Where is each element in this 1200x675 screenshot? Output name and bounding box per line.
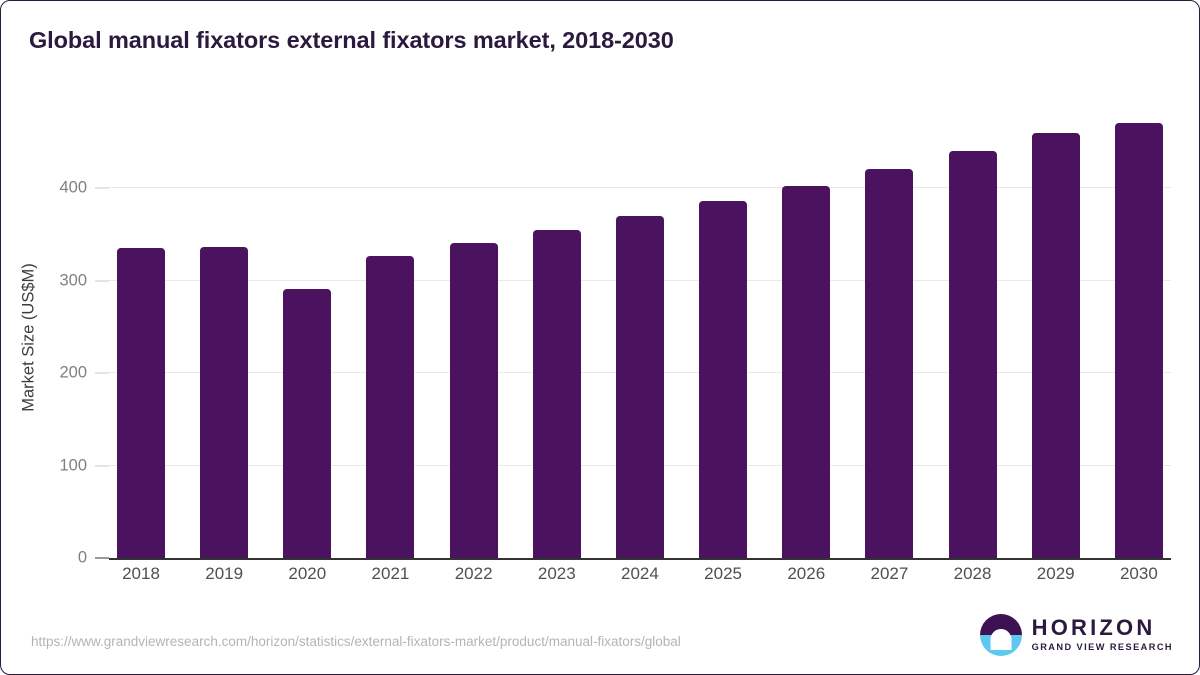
bar-2028[interactable] [949,151,997,558]
bar-slot [366,96,414,558]
x-tick-label-2018: 2018 [117,564,165,584]
x-tick-label-2021: 2021 [366,564,414,584]
x-axis-tick-labels: 2018201920202021202220232024202520262027… [109,564,1171,584]
bar-2020[interactable] [283,289,331,558]
bar-2030[interactable] [1115,123,1163,558]
y-tick-mark [95,465,109,466]
bar-slot [949,96,997,558]
y-tick-mark [95,373,109,374]
bar-slot [200,96,248,558]
logo-text-block: HORIZON GRAND VIEW RESEARCH [1032,617,1173,652]
horizon-logo-icon [980,614,1022,656]
bar-slot [1115,96,1163,558]
bar-slot [616,96,664,558]
y-tick-mark [95,280,109,281]
bar-slot [1032,96,1080,558]
bar-slot [450,96,498,558]
bar-slot [117,96,165,558]
plot-area [109,96,1171,560]
source-url[interactable]: https://www.grandviewresearch.com/horizo… [31,634,681,649]
bar-slot [699,96,747,558]
bar-2021[interactable] [366,256,414,558]
y-tick-label: 100 [59,456,87,475]
x-tick-label-2022: 2022 [450,564,498,584]
chart-canvas: Global manual fixators external fixators… [0,0,1200,675]
y-tick-mark [95,558,109,559]
x-tick-label-2019: 2019 [200,564,248,584]
y-axis: Market Size (US$M) 0100200300400 [1,96,109,560]
bar-slot [865,96,913,558]
bar-2023[interactable] [533,230,581,558]
bar-slot [782,96,830,558]
bar-2027[interactable] [865,169,913,558]
bar-2029[interactable] [1032,133,1080,558]
chart-title: Global manual fixators external fixators… [29,27,674,54]
x-tick-label-2027: 2027 [865,564,913,584]
horizon-line-2 [995,646,1006,648]
bar-2025[interactable] [699,201,747,558]
y-axis-title: Market Size (US$M) [20,158,39,518]
bar-series [109,96,1171,558]
y-tick-label: 400 [59,179,87,198]
x-tick-label-2023: 2023 [533,564,581,584]
x-tick-label-2026: 2026 [782,564,830,584]
logo-subtitle: GRAND VIEW RESEARCH [1032,643,1173,652]
horizon-logo: HORIZON GRAND VIEW RESEARCH [980,614,1173,656]
x-tick-label-2025: 2025 [699,564,747,584]
x-axis-line [109,558,1171,560]
y-tick-mark [95,188,109,189]
y-tick-label: 300 [59,271,87,290]
x-tick-label-2024: 2024 [616,564,664,584]
x-tick-label-2029: 2029 [1032,564,1080,584]
x-tick-label-2030: 2030 [1115,564,1163,584]
horizon-line-1 [992,642,1009,644]
x-tick-label-2028: 2028 [949,564,997,584]
y-tick-label: 0 [78,549,87,568]
bar-slot [533,96,581,558]
bar-2018[interactable] [117,248,165,558]
y-tick-label: 200 [59,364,87,383]
bar-slot [283,96,331,558]
bar-2019[interactable] [200,247,248,558]
bar-2022[interactable] [450,243,498,558]
bar-2026[interactable] [782,186,830,558]
bar-2024[interactable] [616,216,664,558]
logo-name: HORIZON [1032,617,1173,639]
x-tick-label-2020: 2020 [283,564,331,584]
